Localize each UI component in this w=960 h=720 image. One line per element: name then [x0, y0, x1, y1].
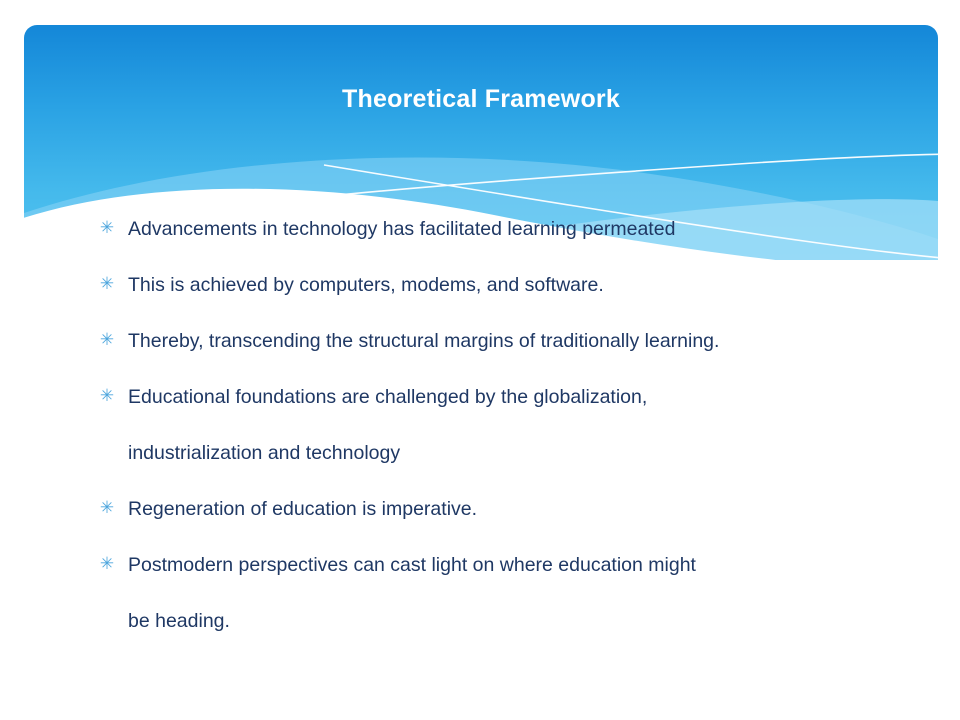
snowflake-asterisk-bullet-icon: ✳: [99, 556, 115, 572]
list-item-continuation-text: industrialization and technology: [128, 437, 960, 466]
list-item-continuation: industrialization and technology: [0, 437, 960, 493]
snowflake-asterisk-bullet-icon: ✳: [99, 500, 115, 516]
list-item-text: Postmodern perspectives can cast light o…: [128, 549, 960, 578]
list-item: ✳ This is achieved by computers, modems,…: [0, 269, 960, 325]
list-item: ✳ Educational foundations are challenged…: [0, 381, 960, 437]
bullet-list: ✳ Advancements in technology has facilit…: [0, 213, 960, 661]
snowflake-asterisk-bullet-icon: ✳: [99, 276, 115, 292]
snowflake-asterisk-bullet-icon: ✳: [99, 220, 115, 236]
snowflake-asterisk-bullet-icon: ✳: [99, 332, 115, 348]
list-item: ✳ Postmodern perspectives can cast light…: [0, 549, 960, 605]
list-item: ✳ Advancements in technology has facilit…: [0, 213, 960, 269]
list-item-text: Regeneration of education is imperative.: [128, 493, 960, 522]
snowflake-asterisk-bullet-icon: ✳: [99, 388, 115, 404]
presentation-slide: Theoretical Framework ✳ Advancements in …: [0, 0, 960, 720]
list-item-text: Advancements in technology has facilitat…: [128, 213, 960, 242]
list-item: ✳ Thereby, transcending the structural m…: [0, 325, 960, 381]
list-item-continuation: be heading.: [0, 605, 960, 661]
list-item-text: Educational foundations are challenged b…: [128, 381, 960, 410]
list-item-continuation-text: be heading.: [128, 605, 960, 634]
page-title: Theoretical Framework: [24, 84, 938, 114]
list-item-text: This is achieved by computers, modems, a…: [128, 269, 960, 298]
list-item-text: Thereby, transcending the structural mar…: [128, 325, 960, 354]
list-item: ✳ Regeneration of education is imperativ…: [0, 493, 960, 549]
